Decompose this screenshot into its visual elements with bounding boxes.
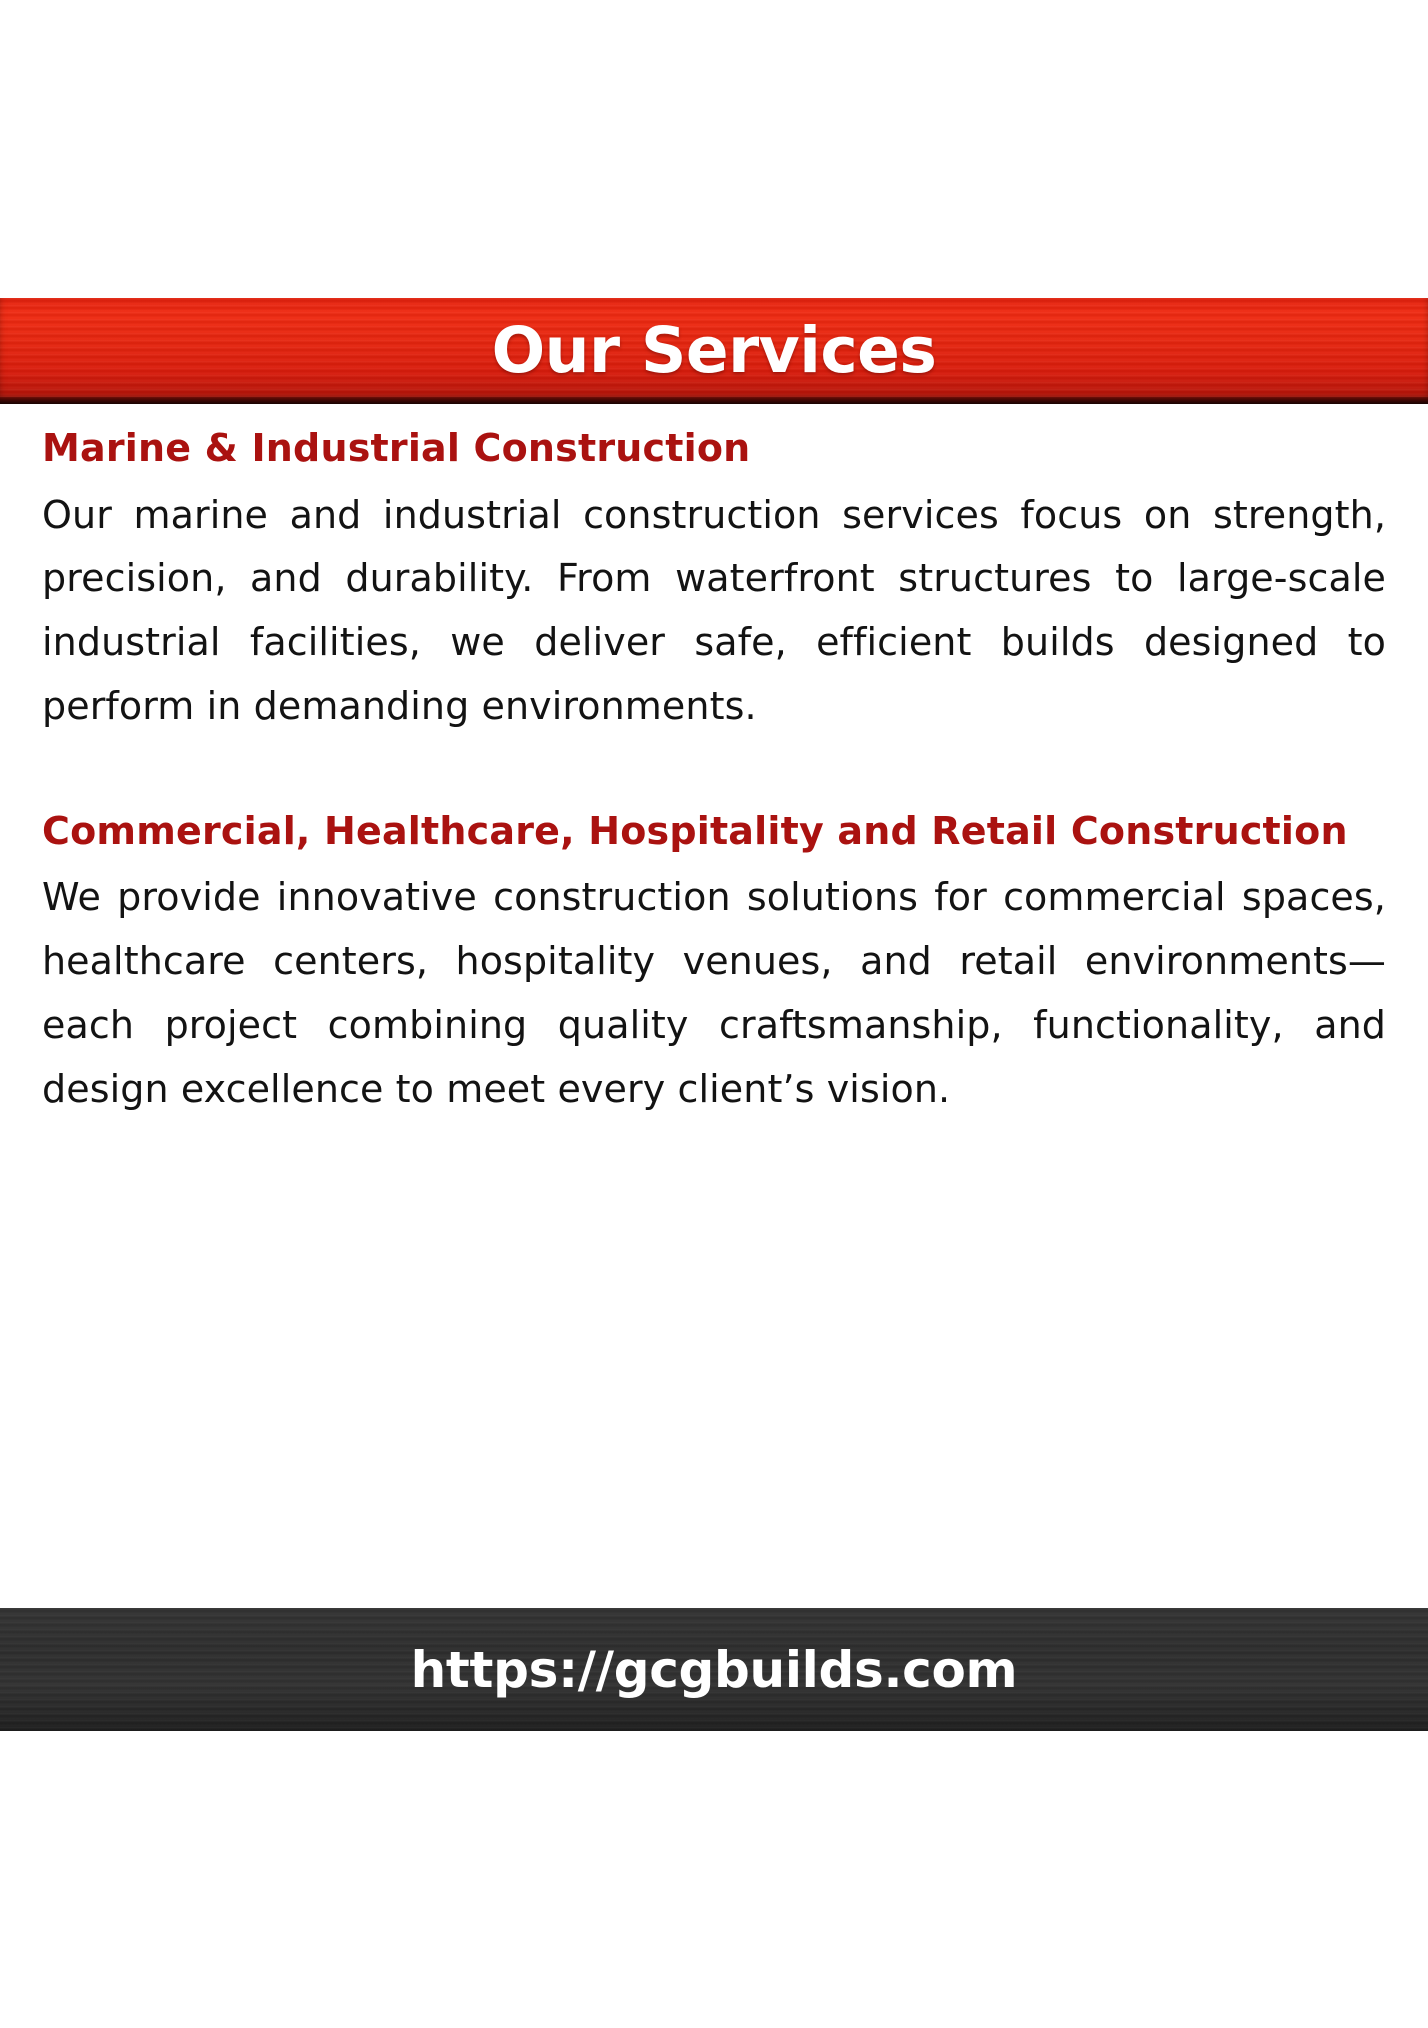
service-description: Our marine and industrial construction s… bbox=[42, 484, 1386, 739]
service-description: We provide innovative construction solut… bbox=[42, 866, 1386, 1121]
service-item-commercial-healthcare-hospitality-retail: Commercial, Healthcare, Hospitality and … bbox=[42, 801, 1386, 1122]
page-canvas: Our Services Marine & Industrial Constru… bbox=[0, 0, 1428, 2028]
section-title-banner: Our Services bbox=[0, 298, 1428, 404]
footer-bar: https://gcgbuilds.com bbox=[0, 1608, 1428, 1731]
website-url-link[interactable]: https://gcgbuilds.com bbox=[411, 1645, 1018, 1695]
services-content: Marine & Industrial Construction Our mar… bbox=[42, 418, 1386, 1122]
service-item-marine-industrial: Marine & Industrial Construction Our mar… bbox=[42, 418, 1386, 739]
page-title: Our Services bbox=[492, 319, 937, 382]
service-heading: Marine & Industrial Construction bbox=[42, 418, 1386, 480]
service-heading: Commercial, Healthcare, Hospitality and … bbox=[42, 801, 1386, 863]
